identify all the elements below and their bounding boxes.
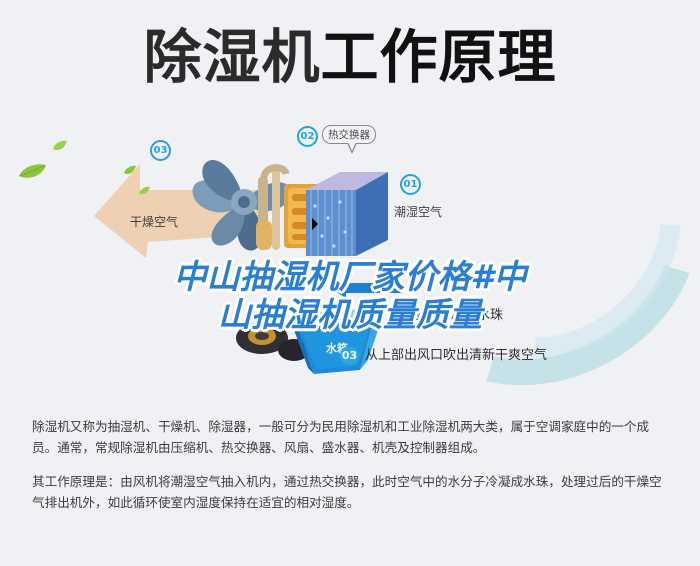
moist-air-label: 潮湿空气 [394, 203, 442, 220]
title-part-product: 除湿机 [143, 23, 320, 91]
body-paragraph-1: 除湿机又称为抽湿机、干燥机、除湿器，一般可分为民用除湿机和工业除湿机两大类，属于… [32, 416, 670, 458]
step-badge-03: 03 [150, 140, 171, 161]
page-title: 除湿机工作原理 [0, 22, 700, 92]
heat-exchanger-label: 热交换器 [328, 129, 370, 141]
leaf-icon [138, 186, 151, 196]
air-intake-arrow-icon [330, 278, 402, 298]
step-badge-01: 01 [400, 174, 421, 195]
dry-air-label: 干燥空气 [130, 213, 178, 230]
step-badge-03-filled: 03 [340, 346, 359, 365]
callout-tail-icon [347, 143, 357, 154]
infographic-page: 除湿机工作原理 [0, 0, 700, 566]
step-3-description: 从上部出风口吹出清新干爽空气 [365, 348, 547, 363]
leaf-icon [18, 162, 48, 182]
title-part-principle: 工作原理 [321, 23, 557, 91]
body-copy: 除湿机又称为抽湿机、干燥机、除湿器，一般可分为民用除湿机和工业除湿机两大类，属于… [32, 416, 670, 513]
step-3-description-row: 03从上部出风口吹出清新干爽空气 [340, 344, 547, 365]
leaf-icon [52, 140, 68, 152]
leaf-icon [123, 165, 137, 176]
body-paragraph-2: 其工作原理是：由风机将潮湿空气抽入机内，通过热交换器，此时空气中的水分子冷凝成水… [32, 471, 670, 513]
diagram-illustration: 03 干燥空气 02 热交换器 01 潮湿空气 水箱 发器冷凝成水珠 03从上部… [0, 118, 700, 408]
heat-exchanger-icon [300, 166, 392, 270]
step-badge-02: 02 [297, 126, 318, 147]
step-2-description: 发器冷凝成水珠 [412, 304, 503, 323]
heat-exchanger-callout: 热交换器 [322, 125, 376, 144]
